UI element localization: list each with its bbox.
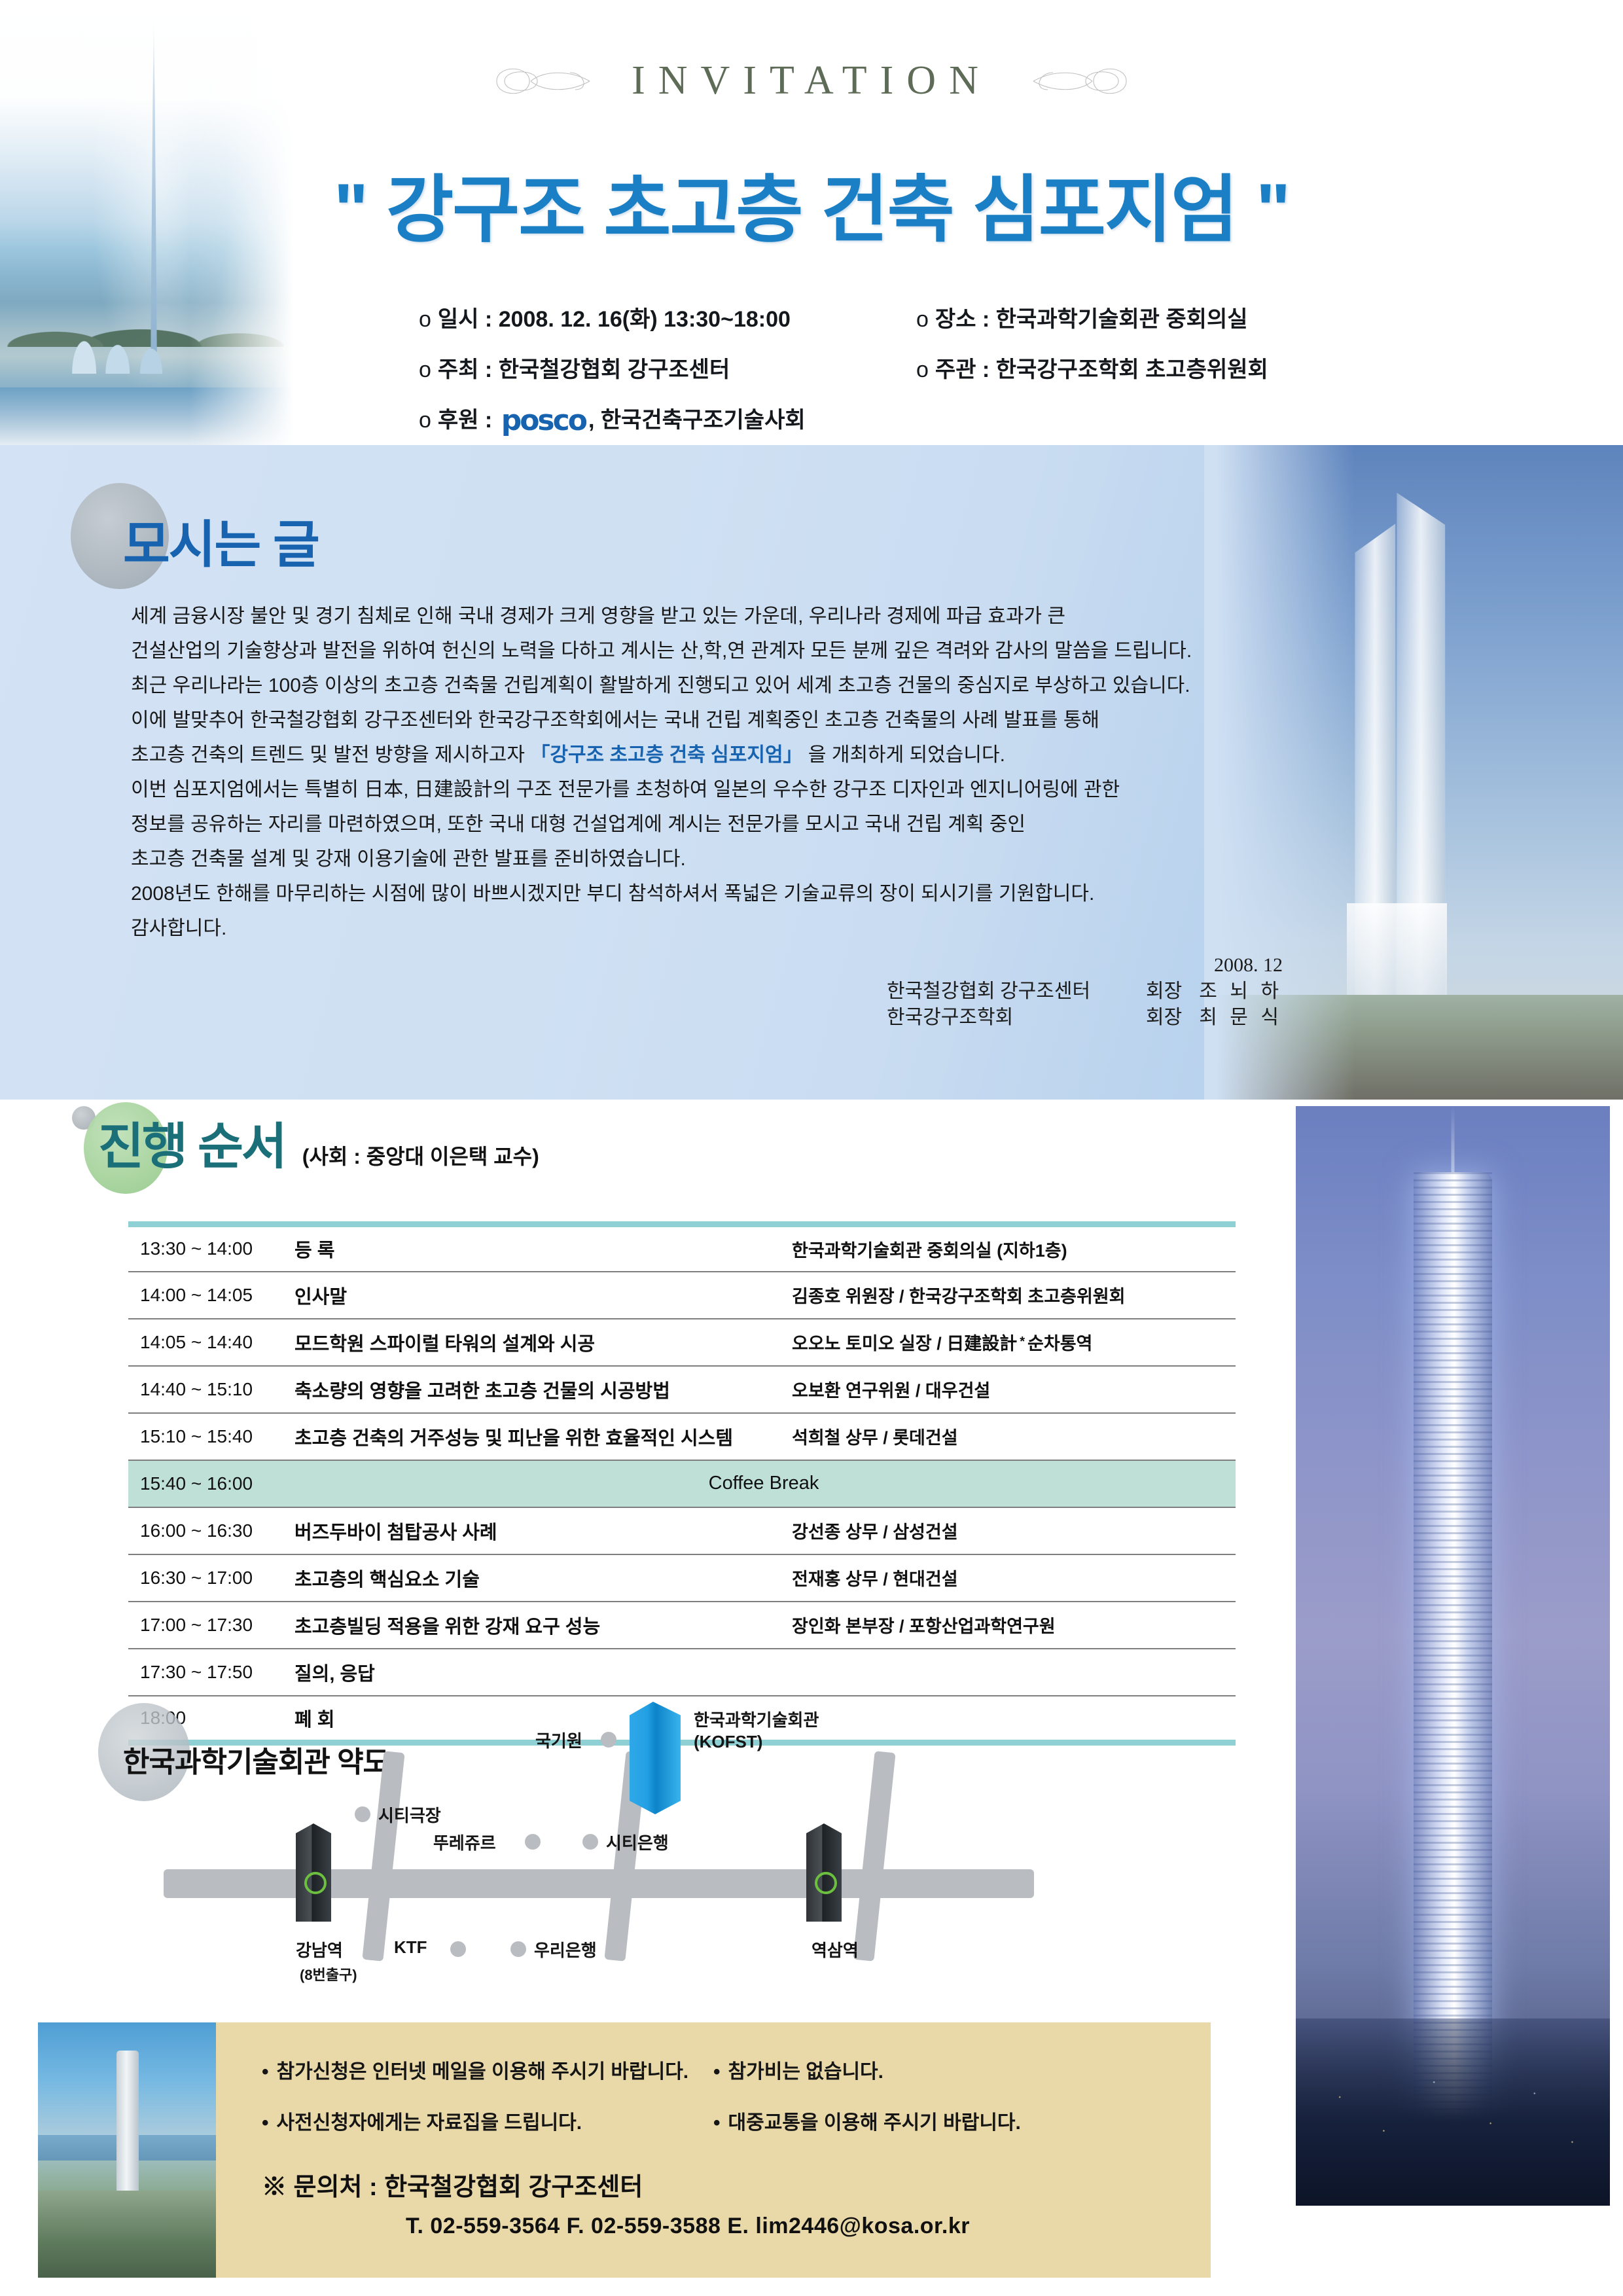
- sail-buildings-shape: [67, 258, 172, 374]
- signature-row: 한국철강협회 강구조센터 회장 조 뇌 하: [887, 978, 1283, 1005]
- map-label-gangnam-exit: (8번출구): [300, 1964, 357, 1984]
- road-horizontal-main: [164, 1869, 1034, 1898]
- contact-details: T. 02-559-3564 F. 02-559-3588 E. lim2446…: [406, 2214, 970, 2239]
- road-vertical-right: [853, 1751, 895, 1962]
- highlight-before: 초고층 건축의 트렌드 및 발전 방향을 제시하고자: [131, 744, 530, 766]
- row-time: 17:00 ~ 17:30: [128, 1602, 292, 1649]
- row-speaker: 강선종 상무 / 삼성건설: [789, 1507, 1236, 1554]
- symposium-name-highlight: 「강구조 초고층 건축 심포지엄」: [530, 744, 802, 766]
- row-speaker: 석희철 상무 / 롯데건설: [789, 1413, 1236, 1460]
- row-topic: 등 록: [292, 1225, 789, 1272]
- footer-note-text: 사전신청자에게는 자료집을 드립니다.: [277, 2112, 582, 2134]
- subway-marker-gangnam: [296, 1823, 331, 1922]
- signature-org: 한국철강협회 강구조센터: [887, 978, 1129, 1005]
- row-time: 16:30 ~ 17:00: [128, 1554, 292, 1602]
- meta-host-label: 주최: [438, 357, 479, 382]
- row-time: 14:05 ~ 14:40: [128, 1319, 292, 1366]
- row-speaker: 장인화 본부장 / 포항산업과학연구원: [789, 1602, 1236, 1649]
- title-quote-close: ": [1256, 169, 1289, 251]
- table-row: 16:00 ~ 16:30 버즈두바이 첨탑공사 사례 강선종 상무 / 삼성건…: [128, 1507, 1236, 1554]
- contact-organization: ※ 문의처 : 한국철강협회 강구조센터: [262, 2166, 643, 2202]
- footer-note-text: 대중교통을 이용해 주시기 바랍니다.: [728, 2112, 1021, 2134]
- invitation-body: 세계 금융시장 불안 및 경기 침체로 인해 국내 경제가 크게 영향을 받고 …: [131, 599, 1243, 946]
- signature-role: 회장: [1146, 978, 1182, 1005]
- road-vertical-left: [362, 1751, 404, 1962]
- map-title: 한국과학기술회관 약도: [123, 1738, 389, 1780]
- footer-note-item: •사전신청자에게는 자료집을 드립니다.: [262, 2106, 713, 2135]
- program-heading-wrap: 진행 순서 (사회 : 중앙대 이은택 교수): [98, 1106, 539, 1178]
- meta-host: o주최 : 한국철강협회 강구조센터: [419, 351, 916, 384]
- meta-host-value: 한국철강협회 강구조센터: [499, 357, 730, 382]
- row-speaker: 오오노 토미오 실장 / 日建設計*순차통역: [789, 1319, 1236, 1366]
- footer-note-item: •참가신청은 인터넷 메일을 이용해 주시기 바랍니다.: [262, 2055, 713, 2084]
- map-label-gangnam-station: 강남역: [296, 1937, 343, 1962]
- invitation-heading: 모시는 글: [123, 504, 319, 577]
- table-row-break: 15:40 ~ 16:00 Coffee Break: [128, 1460, 1236, 1507]
- row-speaker: 전재홍 상무 / 현대건설: [789, 1554, 1236, 1602]
- meta-datetime: o일시 : 2008. 12. 16(화) 13:30~18:00: [419, 301, 916, 333]
- night-tower-image: [1296, 1106, 1610, 2206]
- meta-venue-label: 장소: [935, 307, 976, 332]
- row-time: 14:40 ~ 15:10: [128, 1366, 292, 1413]
- map-label-tous-les-jours: 뚜레쥬르: [433, 1830, 496, 1854]
- table-row: 14:00 ~ 14:05 인사말 김종호 위원장 / 한국강구조학회 초고층위…: [128, 1272, 1236, 1319]
- program-heading: 진행 순서: [98, 1106, 285, 1178]
- map-dot-gukgiwon: [601, 1732, 616, 1748]
- table-row: 14:05 ~ 14:40 모드학원 스파이럴 타워의 설계와 시공 오오노 토…: [128, 1319, 1236, 1366]
- kofst-building-icon: [630, 1702, 681, 1814]
- signature-row: 한국강구조학회 회장 최 문 식: [887, 1005, 1283, 1031]
- row-time: 16:00 ~ 16:30: [128, 1507, 292, 1554]
- row-topic: 모드학원 스파이럴 타워의 설계와 시공: [292, 1319, 789, 1366]
- row-speaker: 오보환 연구위원 / 대우건설: [789, 1366, 1236, 1413]
- table-row: 17:00 ~ 17:30 초고층빌딩 적용을 위한 강재 요구 성능 장인화 …: [128, 1602, 1236, 1649]
- meta-datetime-label: 일시: [438, 307, 479, 332]
- program-moderator: (사회 : 중앙대 이은택 교수): [302, 1140, 539, 1178]
- meta-bullet-icon: o: [419, 307, 431, 332]
- row-time: 14:00 ~ 14:05: [128, 1272, 292, 1319]
- invitation-word-row: INVITATION: [0, 58, 1623, 104]
- table-row: 14:40 ~ 15:10 축소량의 영향을 고려한 초고층 건물의 시공방법 …: [128, 1366, 1236, 1413]
- meta-organizer-label: 주관: [935, 357, 976, 382]
- table-row: 16:30 ~ 17:00 초고층의 핵심요소 기술 전재홍 상무 / 현대건설: [128, 1554, 1236, 1602]
- map-label-yeoksam-station: 역삼역: [811, 1937, 859, 1962]
- map-label-ktf: KTF: [394, 1937, 427, 1958]
- posco-logo: posco: [501, 404, 586, 437]
- coffee-break-label: Coffee Break: [292, 1460, 1236, 1507]
- meta-bullet-icon: o: [916, 307, 929, 332]
- map-label-kofst-en: (KOFST): [694, 1732, 762, 1752]
- tower-floor-bands-shape: [1414, 1172, 1492, 2140]
- signature-name: 조 뇌 하: [1199, 978, 1283, 1005]
- map-label-citibank: 시티은행: [606, 1830, 669, 1854]
- bullet-icon: •: [713, 2112, 721, 2134]
- page-title: " 강구조 초고층 건축 심포지엄 ": [0, 151, 1623, 257]
- meta-venue: o장소 : 한국과학기술회관 중회의실: [916, 301, 1440, 333]
- invitation-paragraph: 이에 발맞추어 한국철강협회 강구조센터와 한국강구조학회에서는 국내 건립 계…: [131, 703, 1243, 738]
- image-fade-bottom: [0, 386, 308, 445]
- row-topic: 인사말: [292, 1272, 789, 1319]
- meta-bullet-icon: o: [916, 357, 929, 382]
- row-speaker: 한국과학기술회관 중회의실 (지하1층): [789, 1225, 1236, 1272]
- asterisk-icon: *: [1020, 1335, 1025, 1349]
- invitation-paragraph: 최근 우리나라는 100층 이상의 초고층 건축물 건립계획이 활발하게 진행되…: [131, 668, 1243, 703]
- row-time: 13:30 ~ 14:00: [128, 1225, 292, 1272]
- footer-notes: •참가신청은 인터넷 메일을 이용해 주시기 바랍니다. •참가비는 없습니다.…: [262, 2055, 1113, 2135]
- row-speaker: 김종호 위원장 / 한국강구조학회 초고층위원회: [789, 1272, 1236, 1319]
- title-quote-open: ": [334, 169, 367, 251]
- title-text: 강구조 초고층 건축 심포지엄: [386, 169, 1237, 251]
- invitation-word: INVITATION: [632, 58, 991, 104]
- meta-sponsor-label: 후원: [438, 408, 479, 433]
- invitation-paragraph: 감사합니다.: [131, 911, 1243, 946]
- invitation-paragraph: 정보를 공유하는 자리를 마련하였으며, 또한 국내 대형 건설업계에 계시는 …: [131, 807, 1243, 842]
- meta-bullet-icon: o: [419, 357, 431, 382]
- map-dot-citibank: [582, 1834, 598, 1850]
- map-dot-tous-les-jours: [525, 1834, 541, 1850]
- invitation-paragraph: 2008년도 한해를 마무리하는 시점에 많이 바쁘시겠지만 부디 참석하셔서 …: [131, 876, 1243, 911]
- meta-venue-value: 한국과학기술회관 중회의실: [996, 307, 1248, 332]
- meta-organizer: o주관 : 한국강구조학회 초고층위원회: [916, 351, 1440, 384]
- signature-role: 회장: [1146, 1005, 1182, 1031]
- row-topic: 버즈두바이 첨탑공사 사례: [292, 1507, 789, 1554]
- row-time: 15:40 ~ 16:00: [128, 1460, 292, 1507]
- invitation-paragraph-highlight: 초고층 건축의 트렌드 및 발전 방향을 제시하고자 「강구조 초고층 건축 심…: [131, 738, 1243, 772]
- signature-block: 2008. 12 한국철강협회 강구조센터 회장 조 뇌 하 한국강구조학회 회…: [887, 952, 1283, 1031]
- interpretation-note: 순차통역: [1027, 1334, 1092, 1354]
- program-schedule-table: 13:30 ~ 14:00 등 록 한국과학기술회관 중회의실 (지하1층) 1…: [128, 1221, 1236, 1746]
- hero-section: INVITATION " 강구조 초고층 건축 심포지엄 " o일시 : 200…: [0, 0, 1623, 445]
- meta-sponsor-value: , 한국건축구조기술사회: [588, 408, 806, 433]
- subway-marker-yeoksam: [806, 1823, 842, 1922]
- map-label-kofst-name: 한국과학기술회관: [694, 1707, 819, 1731]
- table-row: 15:10 ~ 15:40 초고층 건축의 거주성능 및 피난을 위한 효율적인…: [128, 1413, 1236, 1460]
- invitation-paragraph: 세계 금융시장 불안 및 경기 침체로 인해 국내 경제가 크게 영향을 받고 …: [131, 599, 1243, 634]
- bullet-icon: •: [713, 2061, 721, 2083]
- map-dot-woori-bank: [510, 1941, 526, 1957]
- map-label-city-theater: 시티극장: [378, 1803, 441, 1827]
- footer-note-item: •대중교통을 이용해 주시기 바랍니다.: [713, 2106, 1113, 2135]
- map-label-gukgiwon: 국기원: [535, 1728, 582, 1752]
- row-speaker-text: 오오노 토미오 실장 / 日建設計: [792, 1334, 1017, 1354]
- footer-tower-photo: [38, 2022, 216, 2278]
- invitation-paragraph: 이번 심포지엄에서는 특별히 日本, 日建設計의 구조 전문가를 초청하여 일본…: [131, 772, 1243, 807]
- signature-date: 2008. 12: [887, 952, 1283, 978]
- row-topic: 초고층 건축의 거주성능 및 피난을 위한 효율적인 시스템: [292, 1413, 789, 1460]
- highlight-after: 을 개최하게 되었습니다.: [803, 744, 1005, 766]
- row-topic: 축소량의 영향을 고려한 초고층 건물의 시공방법: [292, 1366, 789, 1413]
- invitation-paragraph: 건설산업의 기술향상과 발전을 위하여 헌신의 노력을 다하고 계시는 산,학,…: [131, 634, 1243, 668]
- row-topic: 초고층의 핵심요소 기술: [292, 1554, 789, 1602]
- meta-bullet-icon: o: [419, 408, 431, 433]
- signature-org: 한국강구조학회: [887, 1005, 1129, 1031]
- city-lights-shape: [1296, 2018, 1610, 2206]
- footer-ground-shape: [38, 2191, 216, 2278]
- bullet-icon: •: [262, 2112, 269, 2134]
- bullet-icon: •: [262, 2061, 269, 2083]
- footer-note-text: 참가신청은 인터넷 메일을 이용해 주시기 바랍니다.: [277, 2061, 689, 2083]
- event-meta-block: o일시 : 2008. 12. 16(화) 13:30~18:00 o장소 : …: [419, 301, 1440, 437]
- map-dot-ktf: [450, 1941, 466, 1957]
- signature-name: 최 문 식: [1199, 1005, 1283, 1031]
- venue-map: 한국과학기술회관 약도 한국과학기술회관 (KOFST) 국기원 시티극장 뚜레…: [98, 1689, 1243, 1964]
- footer-note-text: 참가비는 없습니다.: [728, 2061, 883, 2083]
- meta-datetime-value: 2008. 12. 16(화) 13:30~18:00: [499, 307, 791, 332]
- map-label-woori-bank: 우리은행: [534, 1937, 597, 1962]
- row-topic: 초고층빌딩 적용을 위한 강재 요구 성능: [292, 1602, 789, 1649]
- meta-sponsor: o후원 : posco, 한국건축구조기술사회: [419, 402, 1440, 437]
- invitation-paragraph: 초고층 건축물 설계 및 강재 이용기술에 관한 발표를 준비하였습니다.: [131, 842, 1243, 876]
- map-dot-city-theater: [355, 1806, 370, 1822]
- row-time: 15:10 ~ 15:40: [128, 1413, 292, 1460]
- flourish-left-icon: [491, 58, 603, 104]
- footer-note-item: •참가비는 없습니다.: [713, 2055, 1113, 2084]
- meta-organizer-value: 한국강구조학회 초고층위원회: [996, 357, 1268, 382]
- flourish-right-icon: [1020, 58, 1132, 104]
- table-row: 13:30 ~ 14:00 등 록 한국과학기술회관 중회의실 (지하1층): [128, 1225, 1236, 1272]
